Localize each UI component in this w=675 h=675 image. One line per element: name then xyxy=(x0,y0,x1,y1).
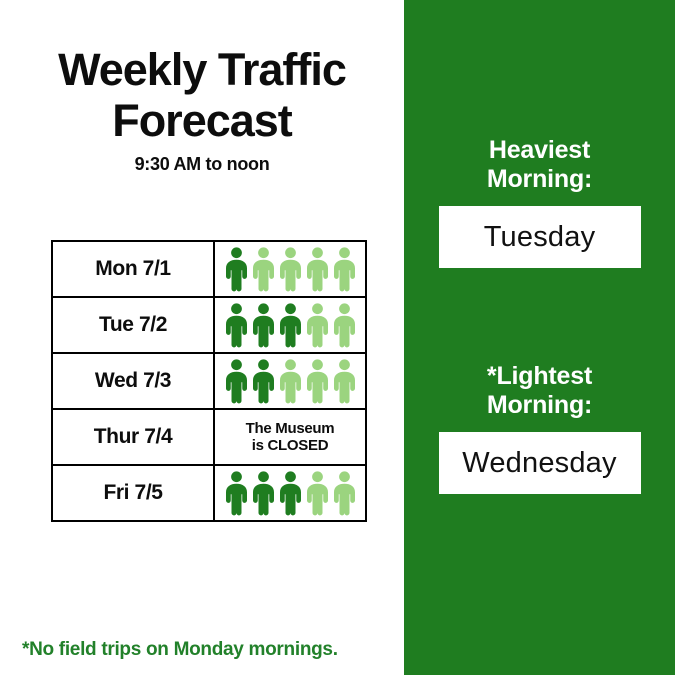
person-icon xyxy=(305,359,330,404)
person-icon xyxy=(278,247,303,292)
person-icon xyxy=(224,471,249,516)
pictogram-row xyxy=(215,471,365,516)
person-icon xyxy=(224,359,249,404)
day-label-cell: Tue 7/2 xyxy=(52,297,214,353)
day-label-cell: Wed 7/3 xyxy=(52,353,214,409)
table-row: Tue 7/2 xyxy=(52,297,366,353)
person-icon xyxy=(305,247,330,292)
person-icon xyxy=(305,471,330,516)
title-block: Weekly Traffic Forecast 9:30 AM to noon xyxy=(0,44,404,175)
lightest-morning-value-box: Wednesday xyxy=(439,432,641,494)
day-label-cell: Thur 7/4 xyxy=(52,409,214,465)
summary-panel: Heaviest Morning: Tuesday *Lightest Morn… xyxy=(404,0,675,675)
day-label-cell: Mon 7/1 xyxy=(52,241,214,297)
heaviest-morning-block: Heaviest Morning: Tuesday xyxy=(404,136,675,268)
person-icon xyxy=(332,247,357,292)
heaviest-morning-value-box: Tuesday xyxy=(439,206,641,268)
pictogram-row xyxy=(215,303,365,348)
person-icon xyxy=(332,359,357,404)
person-icon xyxy=(224,247,249,292)
person-icon xyxy=(224,303,249,348)
table-row: Wed 7/3 xyxy=(52,353,366,409)
traffic-level-cell xyxy=(214,465,366,521)
heaviest-morning-heading: Heaviest Morning: xyxy=(404,136,675,194)
person-icon xyxy=(332,303,357,348)
person-icon xyxy=(251,471,276,516)
traffic-level-cell xyxy=(214,297,366,353)
person-icon xyxy=(278,359,303,404)
person-icon xyxy=(251,359,276,404)
lightest-morning-heading: *Lightest Morning: xyxy=(404,362,675,420)
page-subtitle: 9:30 AM to noon xyxy=(0,154,404,175)
person-icon xyxy=(278,303,303,348)
lightest-morning-block: *Lightest Morning: Wednesday xyxy=(404,362,675,494)
pictogram-row xyxy=(215,247,365,292)
lightest-morning-value: Wednesday xyxy=(462,447,616,480)
pictogram-row xyxy=(215,359,365,404)
person-icon xyxy=(332,471,357,516)
heaviest-morning-value: Tuesday xyxy=(484,221,596,254)
traffic-level-cell xyxy=(214,353,366,409)
person-icon xyxy=(251,303,276,348)
page-title: Weekly Traffic Forecast xyxy=(0,44,404,146)
closed-notice: The Museum is CLOSED xyxy=(215,420,365,454)
day-label-cell: Fri 7/5 xyxy=(52,465,214,521)
traffic-level-cell: The Museum is CLOSED xyxy=(214,409,366,465)
person-icon xyxy=(305,303,330,348)
traffic-level-cell xyxy=(214,241,366,297)
person-icon xyxy=(251,247,276,292)
table-row: Mon 7/1 xyxy=(52,241,366,297)
table-row: Thur 7/4The Museum is CLOSED xyxy=(52,409,366,465)
person-icon xyxy=(278,471,303,516)
footnote: *No field trips on Monday mornings. xyxy=(22,639,338,661)
table-row: Fri 7/5 xyxy=(52,465,366,521)
infographic-canvas: Heaviest Morning: Tuesday *Lightest Morn… xyxy=(0,0,675,675)
forecast-table: Mon 7/1Tue 7/2Wed 7/3Thur 7/4The Museum … xyxy=(51,240,367,522)
